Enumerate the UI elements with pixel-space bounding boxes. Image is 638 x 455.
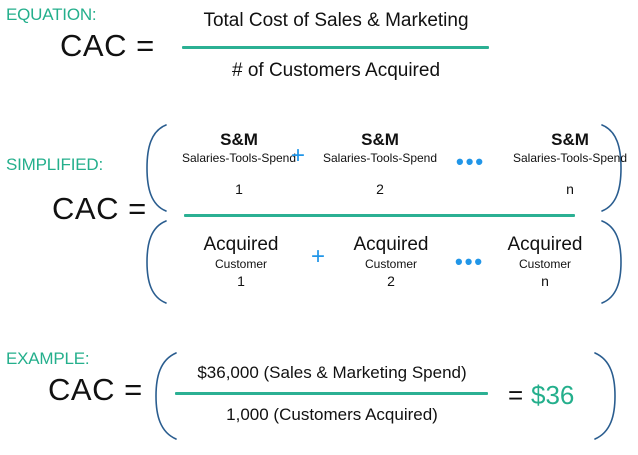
example-result-value: $36 — [531, 380, 574, 411]
equation-fraction-bar — [182, 46, 489, 49]
simplified-denominator-term-2-middle: Customer — [330, 257, 452, 271]
simplified-denominator-term-1: Acquired Customer 1 — [180, 234, 302, 289]
simplified-denominator-term-3-bottom: n — [484, 273, 606, 289]
simplified-numerator-term-3-middle: Salaries-Tools-Spend — [496, 151, 638, 165]
simplified-numerator-term-1-bottom: 1 — [165, 181, 313, 197]
simplified-denominator-term-1-top: Acquired — [180, 234, 302, 256]
equation-lhs: CAC = — [60, 28, 155, 64]
simplified-denominator-left-bracket — [139, 218, 169, 306]
example-equals-sign: = — [508, 380, 523, 411]
simplified-denominator-term-2: Acquired Customer 2 — [330, 234, 452, 289]
simplified-denominator-term-1-bottom: 1 — [180, 273, 302, 289]
simplified-numerator-term-2-top: S&M — [306, 130, 454, 150]
simplified-denominator-term-3-middle: Customer — [484, 257, 606, 271]
simplified-denominator-term-3-top: Acquired — [484, 234, 606, 256]
simplified-numerator-term-2-middle: Salaries-Tools-Spend — [306, 151, 454, 165]
simplified-section: SIMPLIFIED: CAC = S&M Salaries-Tools-Spe… — [0, 118, 638, 310]
simplified-denominator-ellipsis: ••• — [455, 251, 484, 273]
simplified-denominator-term-2-top: Acquired — [330, 234, 452, 256]
equation-numerator: Total Cost of Sales & Marketing — [180, 10, 492, 32]
equation-section: EQUATION: CAC = Total Cost of Sales & Ma… — [0, 0, 638, 100]
example-right-bracket — [592, 350, 624, 442]
example-fraction-bar — [175, 392, 488, 395]
simplified-lhs: CAC = — [52, 191, 147, 227]
example-section: EXAMPLE: CAC = $36,000 (Sales & Marketin… — [0, 345, 638, 455]
simplified-denominator-term-2-bottom: 2 — [330, 273, 452, 289]
simplified-numerator-term-2-bottom: 2 — [306, 181, 454, 197]
example-denominator: 1,000 (Customers Acquired) — [172, 405, 492, 425]
simplified-denominator-term-3: Acquired Customer n — [484, 234, 606, 289]
simplified-numerator-term-2: S&M Salaries-Tools-Spend 2 — [306, 130, 454, 197]
simplified-section-label: SIMPLIFIED: — [6, 155, 103, 175]
simplified-numerator-ellipsis: ••• — [456, 151, 485, 173]
example-section-label: EXAMPLE: — [6, 349, 89, 369]
simplified-fraction-bar — [184, 214, 575, 217]
simplified-numerator-plus-1: + — [291, 144, 305, 168]
example-numerator: $36,000 (Sales & Marketing Spend) — [172, 363, 492, 383]
equation-denominator: # of Customers Acquired — [180, 60, 492, 82]
simplified-denominator-plus-1: + — [311, 245, 325, 269]
simplified-numerator-term-3-top: S&M — [496, 130, 638, 150]
simplified-numerator-term-3: S&M Salaries-Tools-Spend n — [496, 130, 638, 197]
equation-section-label: EQUATION: — [6, 5, 96, 25]
simplified-denominator-term-1-middle: Customer — [180, 257, 302, 271]
simplified-numerator-term-3-bottom: n — [496, 181, 638, 197]
example-lhs: CAC = — [48, 372, 143, 408]
